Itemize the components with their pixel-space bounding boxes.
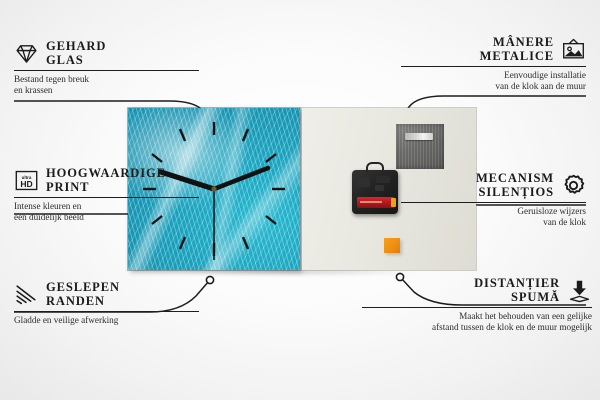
aa-battery — [357, 197, 394, 208]
svg-text:HD: HD — [20, 179, 32, 189]
feature-title: Geslepen randen — [46, 281, 120, 308]
feature-title: Hoogwaardige print — [46, 167, 166, 194]
mechanism-detail — [375, 185, 384, 191]
diamond-icon — [14, 41, 39, 66]
feature-mecanism-silentios: Mecanism silențios Geruisloze wijzers va… — [401, 172, 586, 228]
hands-hub — [211, 186, 216, 191]
feature-subtitle: Eenvoudige installatie van de klok aan d… — [401, 70, 586, 92]
feature-title: Mânere metalice — [480, 36, 554, 63]
feature-rule — [14, 311, 199, 312]
feature-rule — [14, 197, 199, 198]
feature-rule — [14, 70, 199, 71]
feature-title: Gehard glas — [46, 40, 106, 67]
download-arrow-icon — [567, 278, 592, 303]
feature-title: Distanțier spumă — [474, 277, 560, 304]
battery-stripe — [360, 201, 382, 203]
mechanism-detail — [376, 176, 390, 183]
feature-subtitle: Geruisloze wijzers van de klok — [401, 206, 586, 228]
minute-hand — [214, 168, 268, 189]
feature-subtitle: Gladde en veilige afwerking — [14, 315, 199, 326]
feature-subtitle: Intense kleuren en een duidelijk beeld — [14, 201, 199, 223]
feature-rule — [401, 202, 586, 203]
mechanism-hanger-loop — [366, 162, 384, 172]
feature-distantier-spuma: Distanțier spumă Maakt het behouden van … — [362, 277, 592, 333]
feature-hoogwaardige-print: ultra HD Hoogwaardige print Intense kleu… — [14, 167, 199, 223]
infographic-stage: Gehard glas Bestand tegen breuk en krass… — [0, 0, 600, 400]
clock-mechanism — [352, 170, 398, 214]
feature-manere-metalice: Mânere metalice Eenvoudige installatie v… — [401, 36, 586, 92]
feature-rule — [362, 307, 592, 308]
gear-icon — [561, 173, 586, 198]
picture-frame-icon — [561, 37, 586, 62]
feature-subtitle: Maakt het behouden van een gelijke afsta… — [362, 311, 592, 333]
mechanism-detail — [357, 177, 370, 187]
metal-hanger-plate — [396, 124, 444, 169]
feature-title: Mecanism silențios — [476, 172, 554, 199]
connector-dot-geslepen-randen — [206, 276, 213, 283]
hanger-slot — [405, 133, 433, 140]
foam-spacer — [384, 238, 400, 253]
feature-subtitle: Bestand tegen breuk en krassen — [14, 74, 199, 96]
feature-gehard-glas: Gehard glas Bestand tegen breuk en krass… — [14, 40, 199, 96]
battery-cap — [391, 198, 396, 207]
diagonal-lines-icon — [14, 282, 39, 307]
feature-rule — [401, 66, 586, 67]
ultra-hd-icon: ultra HD — [14, 168, 39, 193]
feature-geslepen-randen: Geslepen randen Gladde en veilige afwerk… — [14, 281, 199, 326]
